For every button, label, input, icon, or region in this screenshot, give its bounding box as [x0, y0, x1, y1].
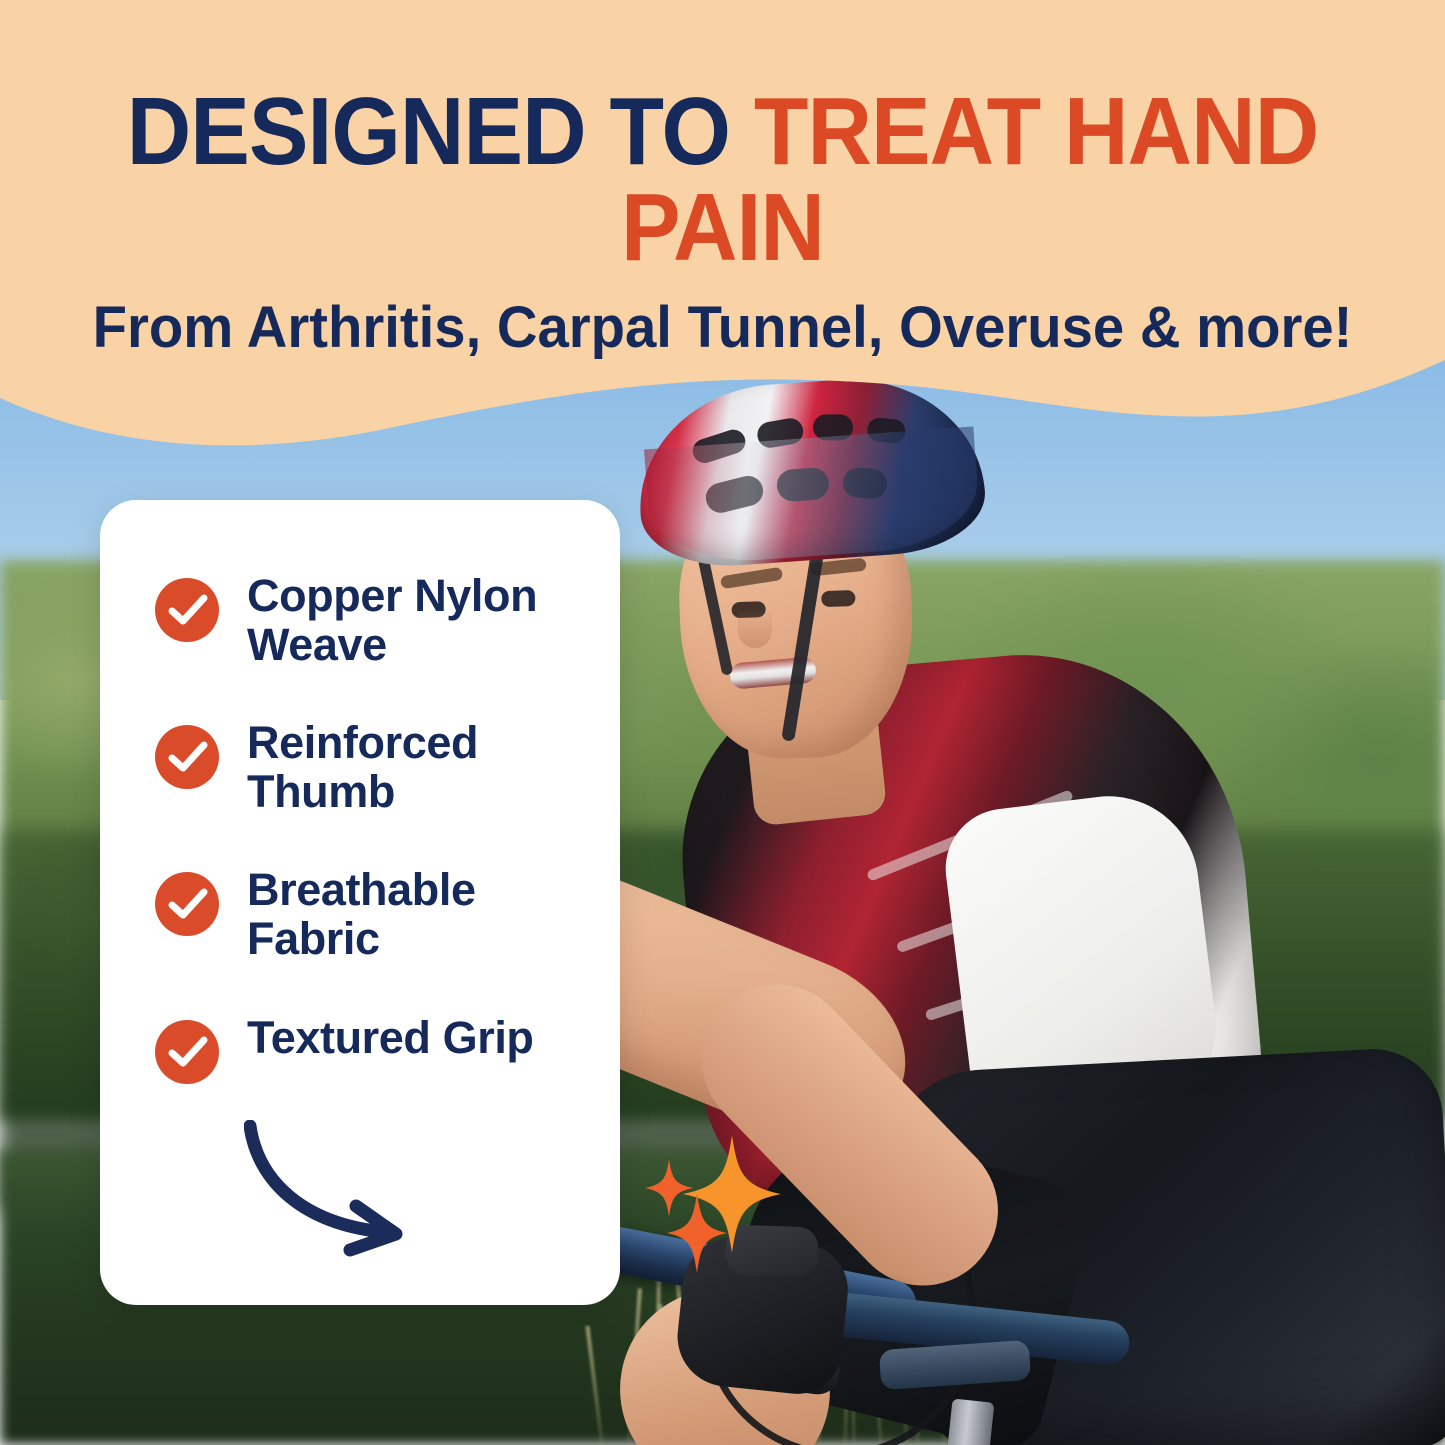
check-icon: [155, 578, 219, 642]
curved-arrow-icon: [244, 1120, 424, 1260]
helmet-vent: [842, 467, 888, 500]
headline-part-one: DESIGNED TO: [127, 78, 754, 185]
eye: [821, 590, 856, 607]
page-title: DESIGNED TO TREAT HAND PAIN: [51, 0, 1395, 276]
feature-list: Copper Nylon WeaveReinforced ThumbBreath…: [155, 572, 585, 1084]
feature-item: Textured Grip: [155, 1014, 585, 1084]
check-icon: [155, 1020, 219, 1084]
sparkle-group: [645, 1135, 815, 1285]
top-banner: DESIGNED TO TREAT HAND PAIN From Arthrit…: [0, 0, 1445, 470]
promo-image: DESIGNED TO TREAT HAND PAIN From Arthrit…: [0, 0, 1445, 1445]
feature-item: Reinforced Thumb: [155, 719, 585, 816]
helmet-vent: [703, 473, 767, 516]
check-icon: [155, 725, 219, 789]
feature-label: Reinforced Thumb: [247, 719, 585, 816]
nose: [738, 608, 772, 648]
sparkle-icon-medium: [667, 1193, 727, 1273]
feature-label: Textured Grip: [247, 1014, 534, 1063]
feature-item: Copper Nylon Weave: [155, 572, 585, 669]
helmet-vent: [776, 467, 830, 503]
feature-label: Breathable Fabric: [247, 866, 585, 963]
feature-item: Breathable Fabric: [155, 866, 585, 963]
feature-label: Copper Nylon Weave: [247, 572, 585, 669]
subtitle: From Arthritis, Carpal Tunnel, Overuse &…: [22, 276, 1424, 359]
check-icon: [155, 872, 219, 936]
eyebrow: [720, 567, 783, 590]
